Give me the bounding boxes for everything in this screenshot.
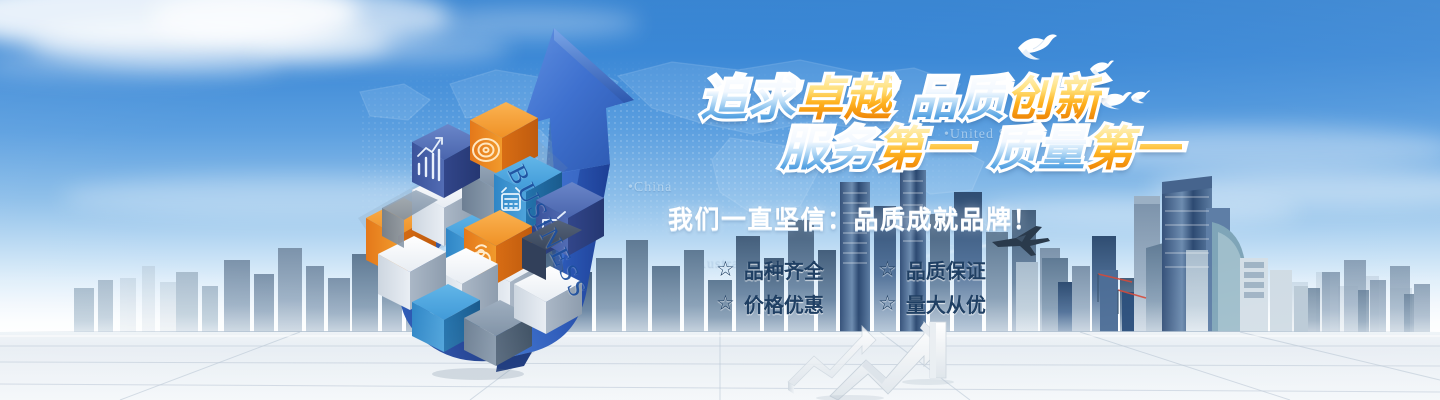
headline-seg: 追求 追求 (700, 72, 796, 127)
cloud (0, 52, 280, 78)
feature-list: ☆ 品种齐全 ☆ 品质保证 ☆ 价格优惠 ☆ 量大从优 (716, 252, 1136, 320)
headline-line-2: 服务 服务 第一 第一 质量 质量 第一 第一 (780, 122, 1182, 177)
headline-seg: 第一 第一 (1086, 122, 1182, 177)
dove-icon (1014, 32, 1058, 62)
star-icon: ☆ (878, 259, 897, 280)
feature-label: 品质保证 (906, 255, 986, 284)
banner-text-block: 追求 追求 卓越 卓越 品质 品质 创新 创新 服务 服务 第一 第一 质量 (660, 72, 1200, 322)
headline-seg: 创新 创新 (1006, 72, 1102, 127)
feature-item: ☆ 品质保证 (878, 255, 1006, 284)
promo-banner: •Europe •United States •China •Australia (0, 0, 1440, 400)
feature-item: ☆ 价格优惠 (716, 289, 844, 318)
headline-seg: 质量 质量 (990, 122, 1086, 177)
feature-item: ☆ 品种齐全 (716, 255, 844, 284)
rubik-cube-arrow-graphic (318, 22, 698, 382)
headline-seg: 第一 第一 (876, 122, 972, 177)
headline-seg: 服务 服务 (780, 122, 876, 177)
feature-label: 量大从优 (906, 289, 986, 318)
feature-item: ☆ 量大从优 (878, 289, 1006, 318)
plaza-floor-grid (0, 332, 1440, 400)
headline-seg: 卓越 卓越 (796, 72, 892, 127)
feature-label: 品种齐全 (744, 255, 824, 284)
star-icon: ☆ (878, 293, 897, 314)
star-icon: ☆ (716, 259, 735, 280)
headline-line-1: 追求 追求 卓越 卓越 品质 品质 创新 创新 (700, 72, 1102, 127)
feature-label: 价格优惠 (744, 289, 824, 318)
headline-seg: 品质 品质 (910, 72, 1006, 127)
star-icon: ☆ (716, 293, 735, 314)
growth-arrows-graphic (778, 316, 1008, 400)
banner-subtitle: 我们一直坚信：品质成就品牌！ (668, 200, 1039, 236)
